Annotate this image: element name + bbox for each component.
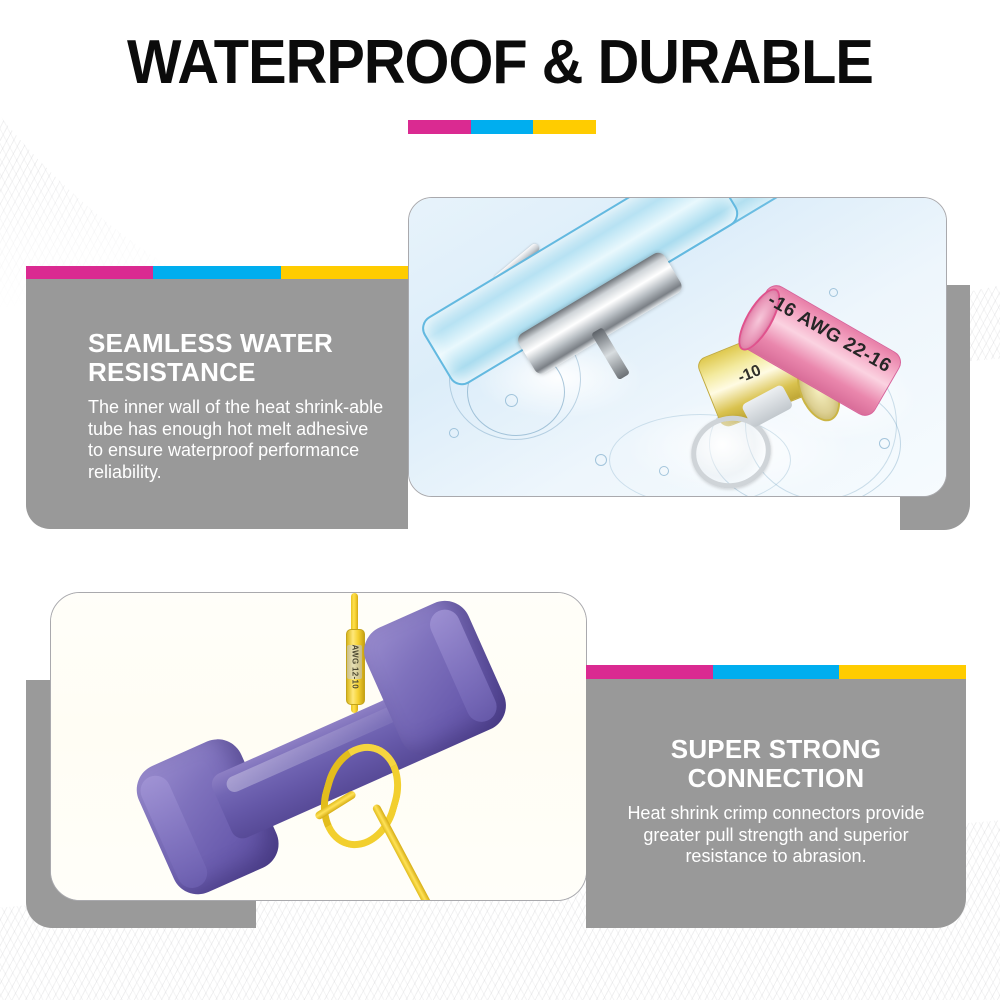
feature-body-water-resistance: The inner wall of the heat shrink-able t… (88, 397, 388, 483)
feature-panel-water-resistance: SEAMLESS WATER RESISTANCE The inner wall… (26, 279, 408, 529)
page-title: WATERPROOF & DURABLE (35, 30, 965, 96)
accent-bar-feature-one (26, 266, 408, 279)
accent-segment-yellow (281, 266, 408, 279)
accent-bar-feature-two (586, 665, 966, 679)
accent-segment-magenta (408, 120, 471, 134)
water-droplet-6 (595, 454, 607, 466)
accent-segment-magenta (586, 665, 713, 679)
accent-segment-cyan (471, 120, 534, 134)
water-droplet-7 (659, 466, 669, 476)
accent-segment-cyan (153, 266, 280, 279)
photo-dumbbell-pull-test: AWG 12-10 (51, 593, 586, 900)
water-droplet-5 (449, 428, 459, 438)
feature-heading-strong-connection: SUPER STRONG CONNECTION (606, 735, 946, 793)
feature-panel-strong-connection: SUPER STRONG CONNECTION Heat shrink crim… (586, 679, 966, 928)
accent-segment-yellow (839, 665, 966, 679)
feature-body-strong-connection: Heat shrink crimp connectors provide gre… (608, 803, 944, 868)
accent-segment-magenta (26, 266, 153, 279)
accent-segment-cyan (713, 665, 840, 679)
feature-heading-water-resistance: SEAMLESS WATER RESISTANCE (88, 329, 388, 387)
accent-bar-title (408, 120, 596, 134)
water-droplet-8 (829, 288, 838, 297)
water-droplet-3 (505, 394, 518, 407)
photo-card-pull-strength: AWG 12-10 (50, 592, 587, 901)
accent-segment-yellow (533, 120, 596, 134)
water-droplet-9 (879, 438, 890, 449)
dumbbell (121, 598, 531, 901)
dumbbell-head-left-face (136, 771, 212, 893)
dumbbell-head-right-face (425, 605, 501, 727)
photo-waterproof-connectors: 12-10 -10 -16 AWG 22-16 (409, 198, 946, 496)
photo-card-waterproof: 12-10 -10 -16 AWG 22-16 (408, 197, 947, 497)
